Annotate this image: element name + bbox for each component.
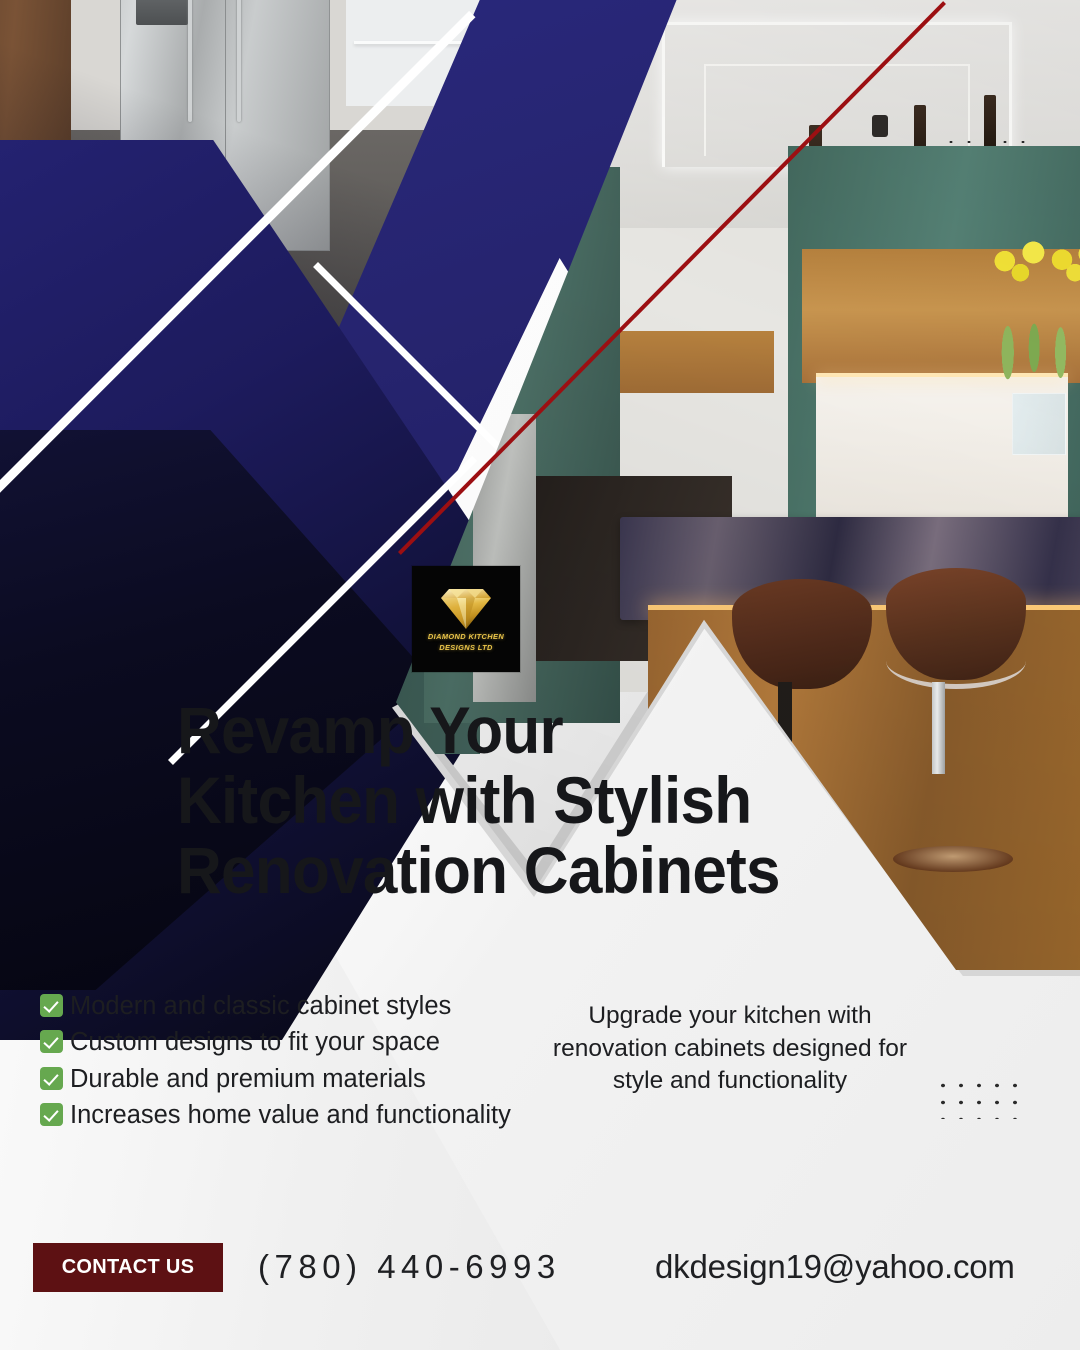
list-item: Custom designs to fit your space [40, 1024, 530, 1060]
feature-text: Modern and classic cabinet styles [70, 992, 451, 1020]
check-mark-icon [40, 1103, 63, 1126]
diamond-icon [437, 586, 495, 630]
check-mark-icon [40, 1030, 63, 1053]
headline-line-3: Renovation Cabinets [177, 836, 779, 906]
list-item: Modern and classic cabinet styles [40, 988, 530, 1024]
check-mark-icon [40, 994, 63, 1017]
logo-line-2: DESIGNS LTD [439, 643, 493, 652]
diamond-kitchen-designs-logo[interactable]: DIAMOND KITCHEN DESIGNS LTD [412, 566, 520, 672]
headline-line-1: Revamp Your [177, 696, 779, 766]
headline-line-2: Kitchen with Stylish [177, 766, 779, 836]
list-item: Increases home value and functionality [40, 1097, 530, 1133]
list-item: Durable and premium materials [40, 1061, 530, 1097]
feature-text: Durable and premium materials [70, 1065, 426, 1093]
dot-grid-pattern [932, 1075, 1024, 1119]
contact-us-button[interactable]: CONTACT US [33, 1243, 223, 1292]
feature-text: Increases home value and functionality [70, 1101, 511, 1129]
feature-list: Modern and classic cabinet styles Custom… [40, 988, 530, 1134]
logo-line-1: DIAMOND KITCHEN [428, 632, 504, 641]
page-title: Revamp Your Kitchen with Stylish Renovat… [177, 696, 779, 906]
feature-text: Custom designs to fit your space [70, 1028, 440, 1056]
check-mark-icon [40, 1067, 63, 1090]
phone-number[interactable]: (780) 440-6993 [258, 1248, 561, 1286]
email-address[interactable]: dkdesign19@yahoo.com [655, 1248, 1015, 1286]
poster-canvas: DIAMOND KITCHEN DESIGNS LTD Revamp Your … [0, 0, 1080, 1350]
subcopy-text: Upgrade your kitchen with renovation cab… [538, 1000, 922, 1098]
